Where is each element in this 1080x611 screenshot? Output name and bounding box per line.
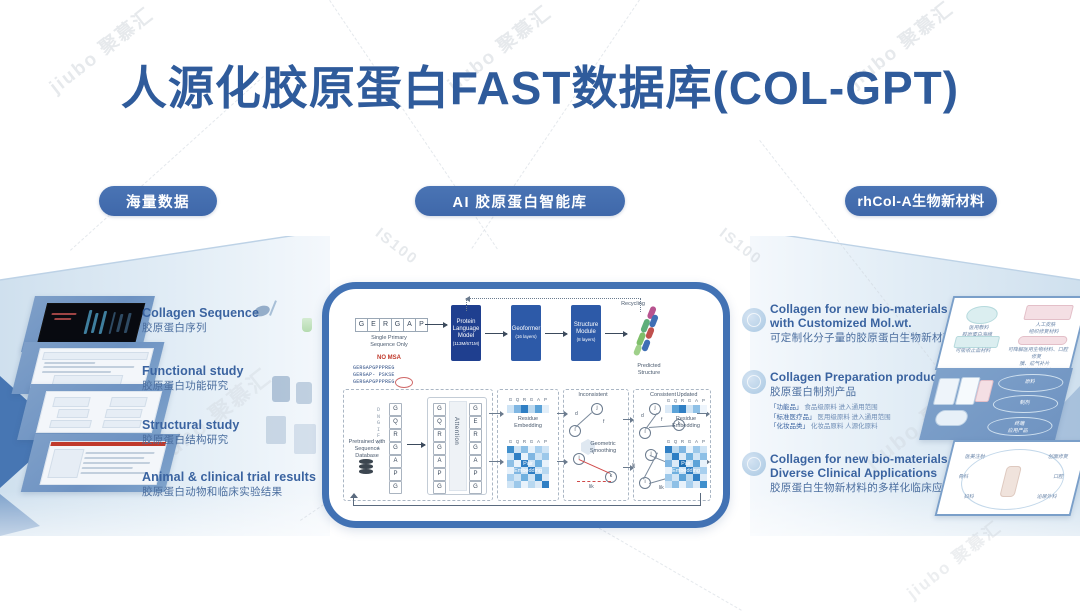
center-diagram-container[interactable]: G E R G A P Single Primary Sequence Only… (322, 282, 730, 528)
residue-0: D (377, 407, 380, 413)
section-pill-ai-collagen-library[interactable]: AI 胶原蛋白智能库 (415, 186, 625, 216)
right-item-1-subcat-0-note: 食品级原料 进入通用范围 (804, 404, 877, 411)
inconsistent2-edge-dashed (577, 481, 611, 483)
no-msa-label: NO MSA (351, 355, 427, 362)
col3-aa-4: A (469, 455, 482, 468)
predicted-structure-line1: Predicted (621, 363, 677, 370)
col3-aa-3: G (469, 442, 482, 455)
geometric-smoothing-line1: Geometric (575, 441, 631, 448)
col2-aa-1: Q (433, 416, 446, 429)
attention-bar (449, 401, 467, 491)
recycling-path-top (466, 298, 641, 299)
section-pill-rhcol-a-biomaterial[interactable]: rhCol-A生物新材料 (845, 186, 997, 216)
left-item-0: Collagen Sequence 胶原蛋白序列 (142, 306, 259, 335)
col1-aa-3: G (389, 442, 402, 455)
pair-embedding-label-1: Pair (505, 461, 551, 468)
col1-aa-4: A (389, 455, 402, 468)
section-pill-massive-data[interactable]: 海量数据 (99, 186, 217, 216)
arrow-inconsistent-to-consistent-2 (623, 467, 633, 468)
seq-line-2: GERGAPGPPPREG (353, 379, 395, 386)
right-item-0: Collagen for new bio-materials with Cust… (770, 302, 954, 345)
residue-4: F (377, 433, 380, 439)
seq-line-1: GERGAP- PSKSE (353, 372, 395, 379)
right-item-0-en-line2: with Customized Mol.wt. (770, 316, 954, 330)
arrow-plm-to-geoformer (485, 333, 507, 334)
left-card-functional-thumb (30, 348, 154, 387)
left-item-2-cn: 胶原蛋白结构研究 (142, 434, 239, 447)
left-item-2-en: Structural study (142, 418, 239, 432)
model-box-geoformer[interactable]: Geoformer (16 layers) (511, 305, 541, 361)
pipeline-diagram: G E R G A P Single Primary Sequence Only… (329, 289, 723, 521)
pair-hdr-0: G (507, 439, 514, 444)
arrow-pair-to-inconsistent (557, 461, 567, 462)
updated-pair-header: G Q R G A P (665, 439, 707, 444)
input-caption-line2: Sequence Only (351, 342, 427, 349)
upd-hdr-4: A (693, 398, 700, 403)
right-item-1-cn: 胶原蛋白制剂产品 (770, 386, 948, 399)
col3-aa-0: G (469, 403, 482, 416)
col1-aa-2: R (389, 429, 402, 442)
inconsistent2-label-lik: lik (589, 484, 594, 490)
col2-aa-4: A (433, 455, 446, 468)
heat-hdr-3: G (528, 397, 535, 402)
col1-aa-6: G (389, 481, 402, 494)
col1-aa-5: P (389, 468, 402, 481)
arrow-input-to-plm (425, 324, 447, 325)
model-box-protein-language-model[interactable]: Protein Language Model (113M/671M) (451, 305, 481, 361)
structmod-line1: Structure (574, 322, 598, 328)
residue-embedding-strip (507, 405, 549, 413)
right-item-2: Collagen for new bio-materials Diverse C… (770, 452, 954, 495)
plm-line1: Protein (457, 319, 476, 325)
left-card-sequence-thumb (37, 303, 146, 345)
left-item-0-cn: 胶原蛋白序列 (142, 322, 259, 335)
structmod-line3: (8 layers) (577, 337, 596, 342)
right-item-1-subcat-2-note: 化妆品原料 人源化原料 (811, 423, 878, 430)
watermark-code-left: IS100 (372, 225, 421, 269)
right-item-1-icon (742, 370, 766, 394)
upd-hdr-0: G (665, 398, 672, 403)
right-panel-materials[interactable]: 医用敷料胶原蛋白海绵 人工皮肤组织修复材料 可吸收止血材料 可降解医用生物材料、… (935, 296, 1080, 370)
col3-aa-6: G (469, 481, 482, 494)
residue-3: I (377, 427, 380, 433)
right-item-1-subcat-2-tag: 「化妆品类」 (770, 423, 809, 430)
input-caption-line1: Single Primary (351, 335, 427, 342)
consistent2-label-ljk: lik (659, 485, 664, 491)
col3-aa-5: P (469, 468, 482, 481)
poster-stage: jiubo 聚慕汇 jiubo 聚慕汇 jiubo 聚慕汇 IS100 IS10… (0, 0, 1080, 611)
heat-hdr-5: P (542, 397, 549, 402)
arrow-geoformer-to-structure (545, 333, 567, 334)
col3-aa-1: E (469, 416, 482, 429)
right-item-0-cn: 可定制化分子量的胶原蛋白生物新材料 (770, 332, 954, 345)
residue-embedding-label-2: Embedding (503, 423, 553, 430)
updpair-hdr-4: A (693, 439, 700, 444)
left-item-2: Structural study 胶原蛋白结构研究 (142, 418, 239, 447)
arrow-consistent-to-updated-1 (697, 413, 709, 414)
db-label-line2: Sequence (339, 446, 395, 453)
plm-line4: (113M/671M) (453, 341, 479, 346)
pair-hdr-2: R (521, 439, 528, 444)
col2-aa-6: G (433, 481, 446, 494)
right-item-2-icon (742, 452, 766, 476)
residue-embedding-label-1: Residue (503, 416, 553, 423)
right-item-0-en-line1: Collagen for new bio-materials (770, 302, 954, 316)
inconsistent-node-j: j (591, 403, 603, 415)
right-item-1-subcat-0-tag: 「功能品」 (770, 404, 803, 411)
updpair-hdr-1: Q (672, 439, 679, 444)
db-label-line3: Database (339, 453, 395, 460)
updated-pair-label-2: Embedding (663, 468, 709, 475)
residue-2: G (377, 420, 380, 426)
plm-line3: Model (458, 333, 474, 339)
residue-5: M (377, 440, 380, 446)
updpair-hdr-5: P (700, 439, 707, 444)
left-item-1-en: Functional study (142, 364, 244, 378)
arrow-db-to-attention (407, 444, 425, 445)
heat-hdr-1: Q (514, 397, 521, 402)
residue-list: D N G I F M A (377, 407, 380, 453)
upd-hdr-2: R (679, 398, 686, 403)
geometric-smoothing-line2: Smoothing (575, 448, 631, 455)
updated-residue-header: G Q R G A P (665, 398, 707, 403)
left-illustration-cabinet2-icon (294, 424, 316, 454)
updpair-hdr-0: G (665, 439, 672, 444)
recycling-path-left (466, 298, 468, 311)
predicted-structure-ribbon (628, 304, 672, 362)
pair-embedding-header: G Q R G A P (507, 439, 549, 444)
pair-embedding-label-2: Embedding (505, 468, 551, 475)
left-item-3-cn: 胶原蛋白动物和临床实验结果 (142, 486, 316, 499)
heat-hdr-4: A (535, 397, 542, 402)
arrow-inconsistent-to-consistent-1 (623, 419, 633, 420)
pair-hdr-3: G (528, 439, 535, 444)
arrow-structure-to-predicted (605, 333, 627, 334)
left-item-3-en: Animal & clinical trial results (142, 470, 316, 484)
arrow-to-residue-embedding (489, 413, 503, 414)
left-illustration-machine-icon (272, 376, 290, 402)
heat-hdr-0: G (507, 397, 514, 402)
right-item-1-subcat-1-tag: 「标准医疗品」 (770, 414, 816, 421)
structmod-line2: Module (576, 329, 596, 335)
feedback-arrowhead (350, 493, 358, 498)
pair-hdr-5: P (542, 439, 549, 444)
right-item-0-icon (742, 308, 766, 332)
left-item-3: Animal & clinical trial results 胶原蛋白动物和临… (142, 470, 316, 499)
right-item-1: Collagen Preparation products 胶原蛋白制剂产品 「… (770, 370, 948, 432)
col3-aa-2: R (469, 429, 482, 442)
feedback-line-bottom (353, 505, 701, 506)
left-illustration-machine2-icon (296, 382, 312, 404)
upd-hdr-1: Q (672, 398, 679, 403)
page-title: 人源化胶原蛋白FAST数据库(COL-GPT) (0, 52, 1080, 118)
inconsistent-label: Inconsistent (561, 392, 625, 399)
arrow-to-pair-embedding (489, 461, 503, 462)
updated-residue-label-2: Embedding (661, 423, 711, 430)
seq-line-0: GERGAPGPPPREG (353, 365, 395, 372)
right-item-1-subcat-1: 「标准医疗品」 医用级原料 进入通用范围 (770, 413, 948, 423)
left-item-0-en: Collagen Sequence (142, 306, 259, 320)
right-panel-preparation[interactable]: 原料 制剂 终端应用产品 (919, 368, 1073, 440)
attention-label: Attention (453, 417, 459, 445)
left-illustration-cabinet-icon (266, 416, 286, 444)
consistent-label-d: d (641, 413, 644, 419)
updpair-hdr-3: G (686, 439, 693, 444)
right-item-2-en-line2: Diverse Clinical Applications (770, 466, 954, 480)
residue-6: A (377, 446, 380, 452)
geoformer-line2: (16 layers) (515, 334, 536, 339)
right-item-1-subcat-1-note: 医用级原料 进入通用范围 (817, 414, 890, 421)
right-item-1-en-line1: Collagen Preparation products (770, 370, 948, 384)
col1-aa-0: G (389, 403, 402, 416)
sequence-database-icon (359, 459, 373, 475)
seq-letter-5: P (415, 318, 428, 332)
seq-highlight-circle (395, 377, 413, 388)
right-item-1-subcat-0: 「功能品」 食品级原料 进入通用范围 (770, 403, 948, 413)
arrow-res-to-inconsistent (557, 413, 567, 414)
upd-hdr-3: G (686, 398, 693, 403)
col2-aa-5: P (433, 468, 446, 481)
col2-aa-0: G (433, 403, 446, 416)
right-panel-applications[interactable]: 医美注射 创面修复 骨科 口腔 妇科 泌尿外科 (935, 440, 1080, 516)
right-item-2-en-line1: Collagen for new bio-materials (770, 452, 954, 466)
residue-embedding-header: G Q R G A P (507, 397, 549, 402)
residue-1: N (377, 414, 380, 420)
updated-residue-label-1: Residue (661, 416, 711, 423)
plm-line2: Language (453, 326, 480, 332)
col1-aa-1: Q (389, 416, 402, 429)
pair-hdr-4: A (535, 439, 542, 444)
upd-hdr-5: P (700, 398, 707, 403)
heat-hdr-2: R (521, 397, 528, 402)
updated-pair-label-1: Pair (663, 461, 709, 468)
right-item-2-cn: 胶原蛋白生物新材料的多样化临床应用 (770, 482, 954, 495)
predicted-structure-line2: Structure (621, 370, 677, 377)
left-item-1: Functional study 胶原蛋白功能研究 (142, 364, 244, 393)
updpair-hdr-2: R (679, 439, 686, 444)
db-label-line1: Pretrained with (339, 439, 395, 446)
model-box-structure-module[interactable]: Structure Module (8 layers) (571, 305, 601, 361)
inconsistent-edge-label-d: d (575, 411, 578, 417)
col2-aa-3: G (433, 442, 446, 455)
updated-residue-strip (665, 405, 707, 413)
geoformer-line1: Geoformer (512, 326, 541, 332)
pair-hdr-1: Q (514, 439, 521, 444)
left-illustration-beaker-icon (302, 318, 312, 332)
input-sequence-boxes: G E R G A P (355, 318, 427, 332)
col2-aa-2: R (433, 429, 446, 442)
feedback-line-right (700, 493, 701, 506)
inconsistent-edge-label-e: f (603, 419, 604, 425)
left-item-1-cn: 胶原蛋白功能研究 (142, 380, 244, 393)
